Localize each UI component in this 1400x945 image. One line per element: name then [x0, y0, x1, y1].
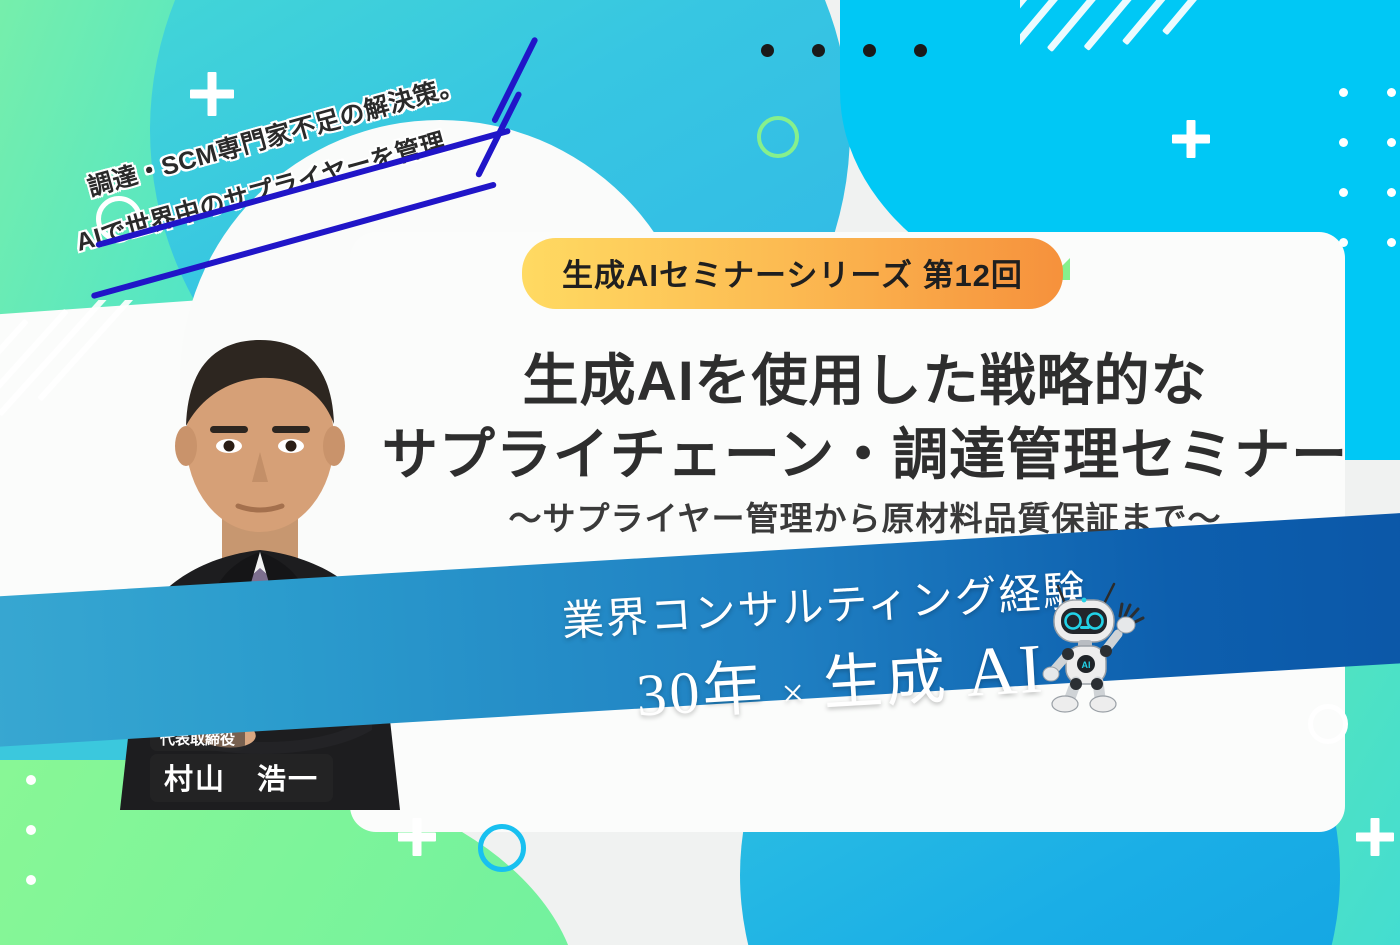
- ai-prefix: 生成: [821, 644, 951, 717]
- plus-icon-top-right: [1172, 120, 1210, 158]
- dot-grid-top-right-icon: [1330, 80, 1400, 340]
- robot-mascot-icon: AI: [1028, 578, 1148, 713]
- experience-years: 30年: [635, 655, 768, 729]
- dot-column-bottom-left-icon: [26, 775, 38, 945]
- dot-icon-3: [863, 44, 876, 57]
- dot-icon-1: [761, 44, 774, 57]
- plus-icon-top-left: [190, 72, 234, 116]
- multiply-icon: ×: [780, 669, 808, 715]
- plus-icon-bottom-right: [1356, 818, 1394, 856]
- presenter-name: 村山 浩一: [150, 754, 333, 802]
- dot-icon-2: [812, 44, 825, 57]
- plus-icon-bottom-left-card: [398, 818, 436, 856]
- series-badge: 生成AIセミナーシリーズ 第12回: [522, 238, 1063, 309]
- ring-icon-green-top: [757, 116, 799, 158]
- page-title-line-2: サプライチェーン・調達管理セミナー: [0, 410, 1400, 491]
- ring-icon-cyan-bottom: [478, 824, 526, 872]
- dot-icon-4: [914, 44, 927, 57]
- seminar-banner: 調達・SCM専門家不足の解決策。 AIで世界中のサプライヤーを管理: [0, 0, 1400, 945]
- ring-icon-white-bottom-right: [1308, 704, 1348, 744]
- diagonal-stripes-top-right-icon: [1020, 0, 1280, 160]
- page-title-line-1: 生成AIを使用した戦略的な: [0, 336, 1400, 417]
- svg-text:AI: AI: [1082, 660, 1091, 670]
